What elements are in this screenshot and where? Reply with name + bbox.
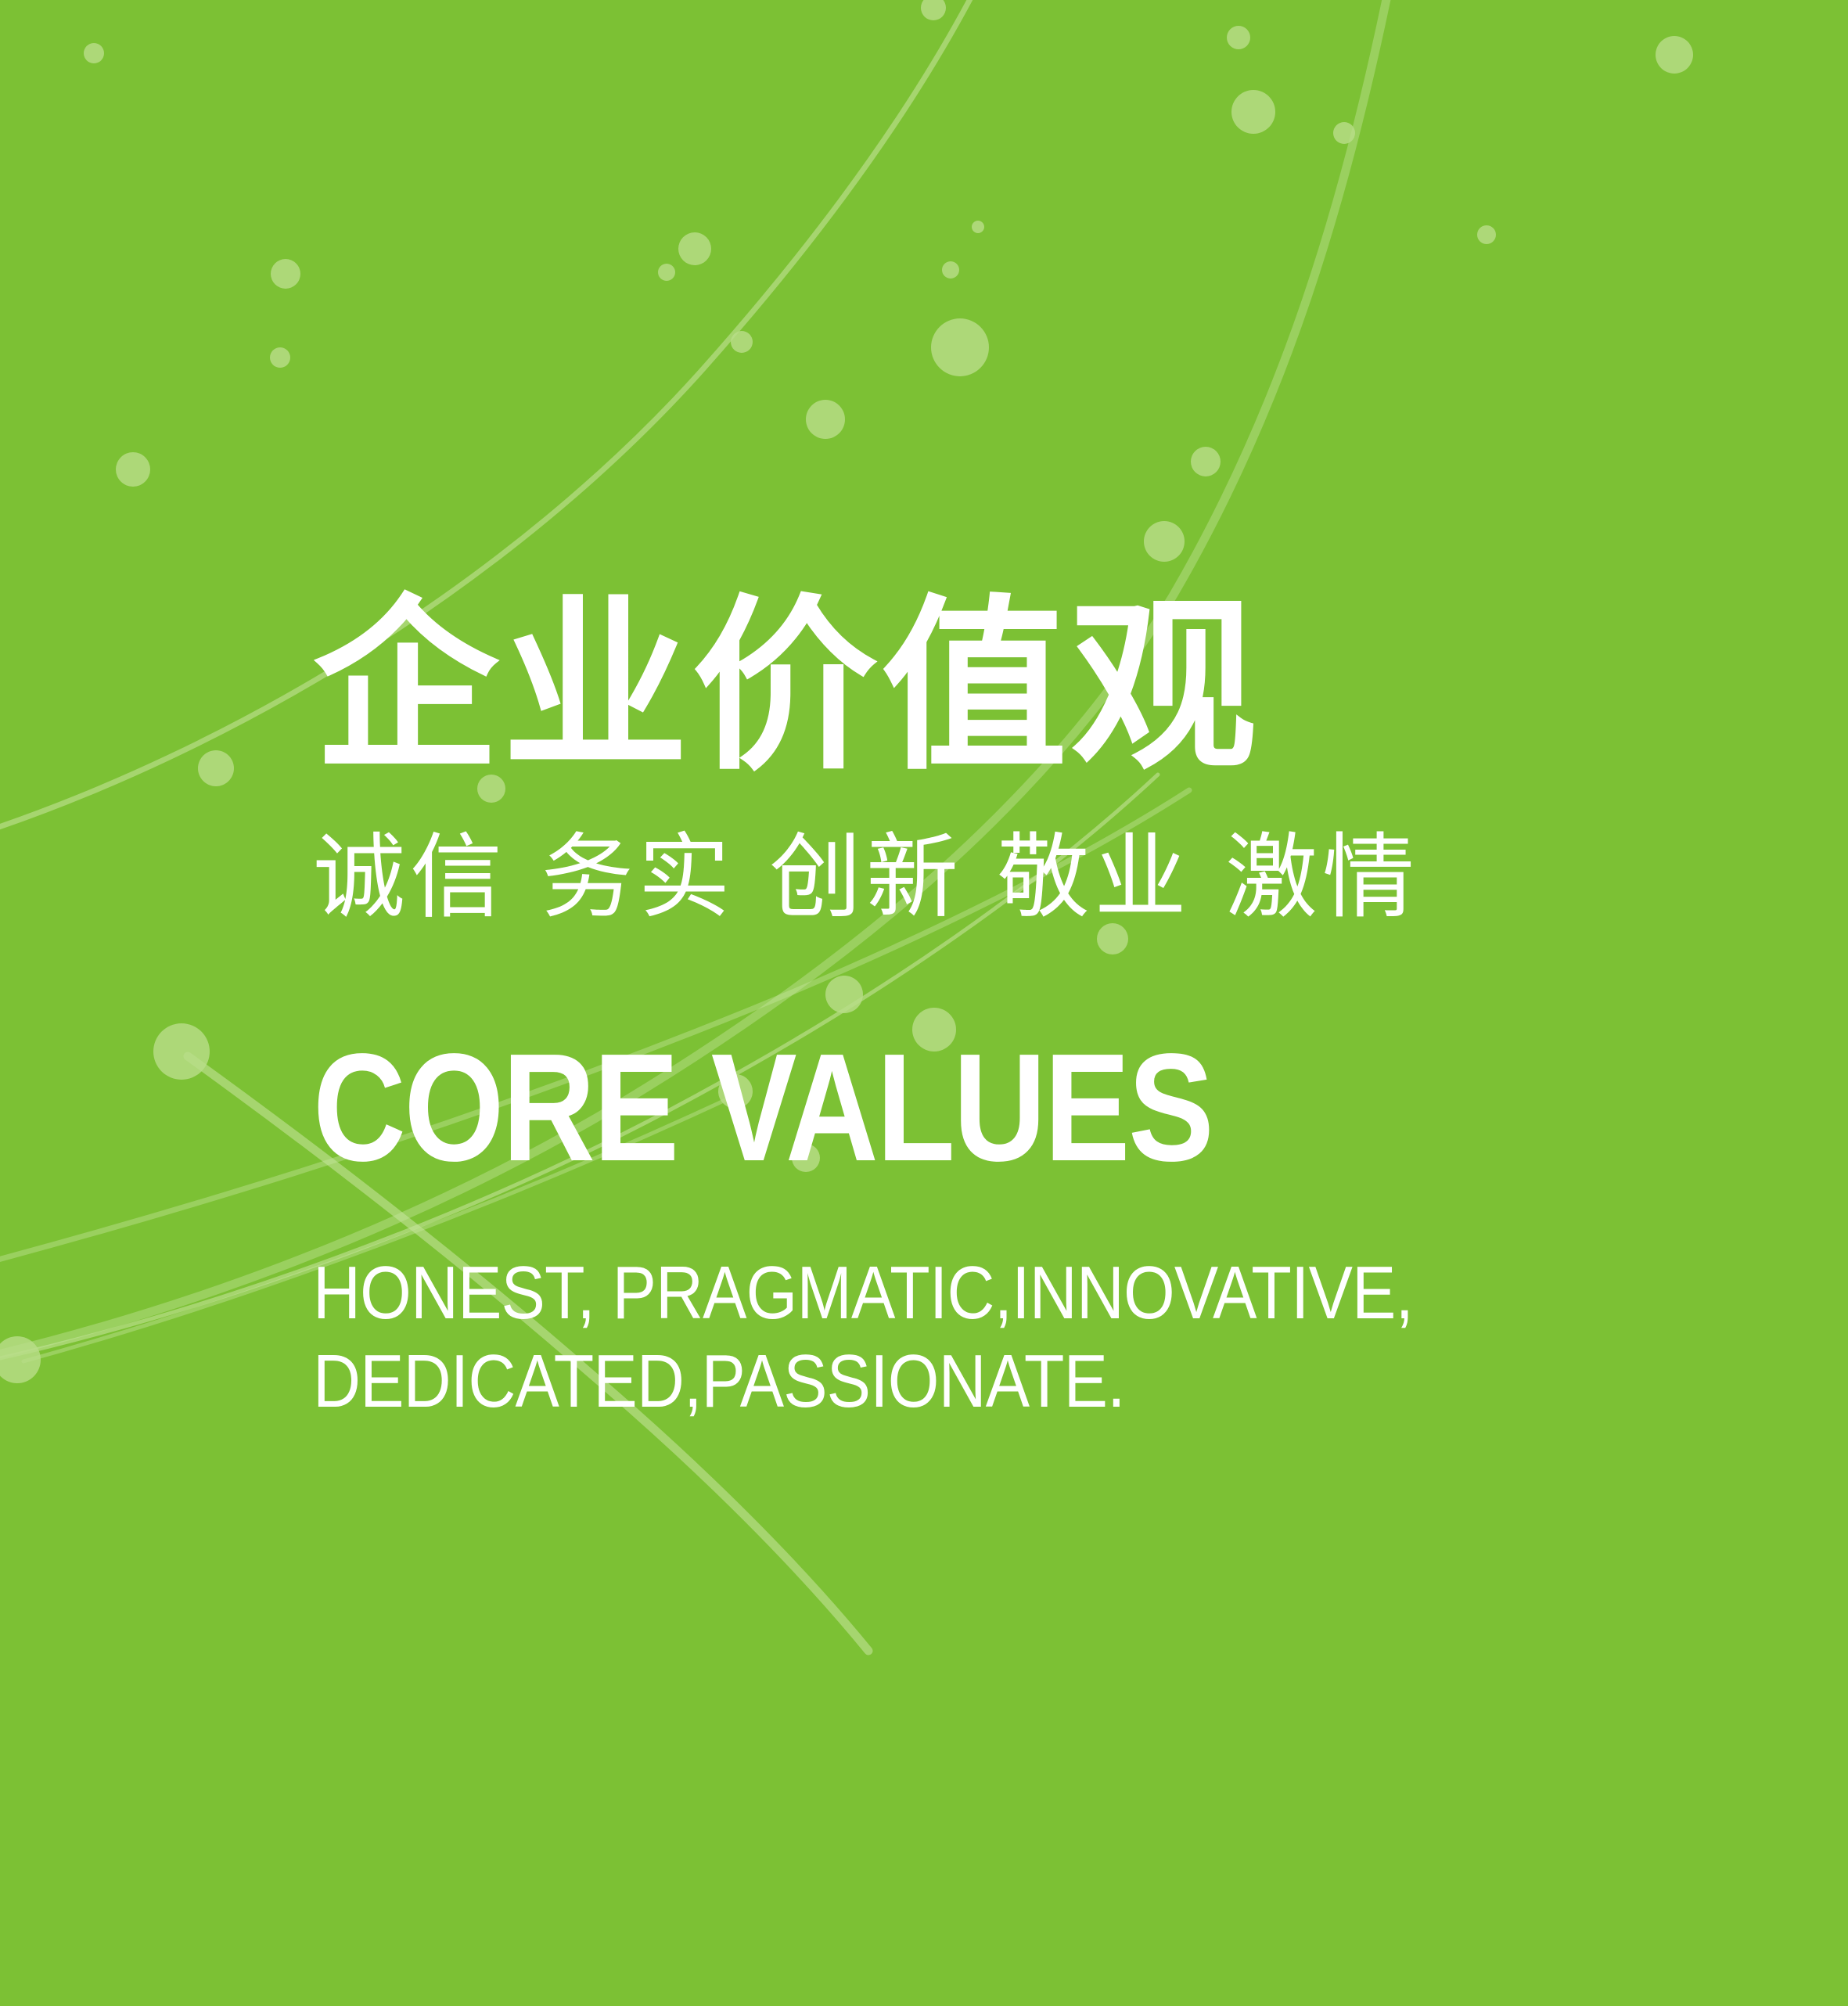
chinese-subtitle-values: 诚信 务实 创新 敬业 激情 — [313, 831, 1799, 923]
decor-node-dot — [198, 750, 234, 786]
core-values-poster: 企业价值观 诚信 务实 创新 敬业 激情 CORE VALUES HONEST,… — [0, 0, 1848, 2006]
decor-node-dot — [1231, 90, 1275, 134]
decor-node-dot — [921, 0, 946, 20]
chinese-title: 企业价值观 — [313, 595, 1799, 781]
decor-node-dot — [1477, 225, 1496, 244]
english-title: CORE VALUES — [313, 1031, 1562, 1185]
decor-node-dot — [116, 452, 150, 487]
decor-node-dot — [153, 1023, 210, 1080]
english-values-line-1: HONEST, PRAGMATIC,INNOVATIVE, — [313, 1249, 1621, 1337]
decor-node-dot — [972, 221, 984, 233]
english-values-line-2: DEDICATED,PASSIONATE. — [313, 1337, 1621, 1425]
decor-node-dot — [1333, 122, 1355, 144]
decor-node-dot — [806, 400, 845, 439]
decor-node-dot — [1656, 36, 1693, 74]
english-values-block: HONEST, PRAGMATIC,INNOVATIVE, DEDICATED,… — [313, 1249, 1621, 1426]
headline-block: 企业价值观 诚信 务实 创新 敬业 激情 CORE VALUES HONEST,… — [313, 595, 1799, 1426]
decor-node-dot — [1227, 26, 1250, 49]
decor-node-dot — [731, 331, 753, 353]
decor-node-dot — [678, 232, 711, 265]
decor-node-dot — [658, 264, 675, 281]
decor-node-dot — [942, 261, 959, 279]
decor-node-dot — [0, 1336, 41, 1383]
decor-node-dot — [270, 347, 290, 368]
decor-node-dot — [931, 318, 989, 376]
decor-node-dot — [84, 43, 104, 63]
decor-node-dot — [271, 259, 300, 289]
decor-node-dot — [1191, 447, 1221, 476]
decor-node-dot — [1144, 521, 1185, 562]
